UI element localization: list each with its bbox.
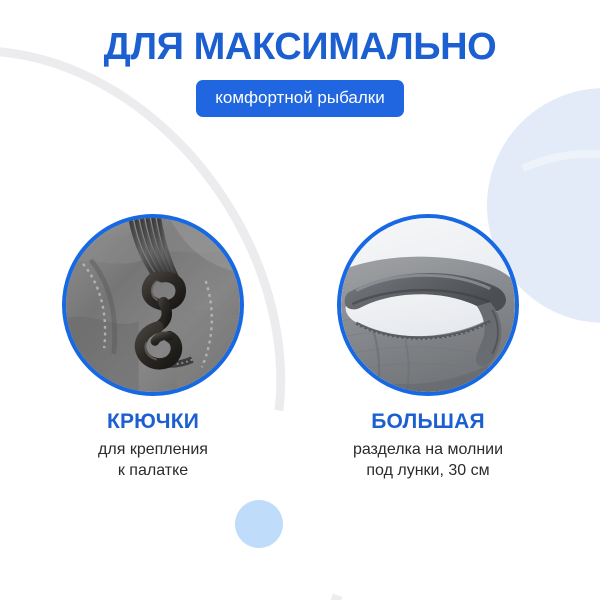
infographic-canvas: ДЛЯ МАКСИМАЛЬНО комфортной рыбалки [0, 0, 600, 600]
feature-body-line: для крепления [18, 439, 288, 460]
feature-body-line: под лунки, 30 см [293, 460, 563, 481]
feature-body-line: к палатке [18, 460, 288, 481]
badge-wrapper: комфортной рыбалки [0, 80, 600, 117]
feature-body: разделка на молнии под лунки, 30 см [293, 439, 563, 481]
feature-caption-zipper: БОЛЬШАЯ разделка на молнии под лунки, 30… [293, 410, 563, 481]
tent-hook-photo [62, 214, 244, 396]
feature-body: для крепления к палатке [18, 439, 288, 481]
feature-caption-hooks: КРЮЧКИ для крепления к палатке [18, 410, 288, 481]
feature-card-hooks: КРЮЧКИ для крепления к палатке [18, 214, 288, 481]
subtitle-badge: комфортной рыбалки [196, 80, 403, 117]
feature-title: БОЛЬШАЯ [293, 410, 563, 434]
feature-photo-ring-hooks [62, 214, 244, 396]
header: ДЛЯ МАКСИМАЛЬНО комфортной рыбалки [0, 26, 600, 117]
feature-card-zipper: БОЛЬШАЯ разделка на молнии под лунки, 30… [293, 214, 563, 481]
zipper-opening-photo [337, 214, 519, 396]
feature-body-line: разделка на молнии [293, 439, 563, 460]
feature-photo-ring-zipper [337, 214, 519, 396]
decor-dot-bottom [235, 500, 283, 548]
feature-title: КРЮЧКИ [18, 410, 288, 434]
page-title: ДЛЯ МАКСИМАЛЬНО [0, 26, 600, 68]
